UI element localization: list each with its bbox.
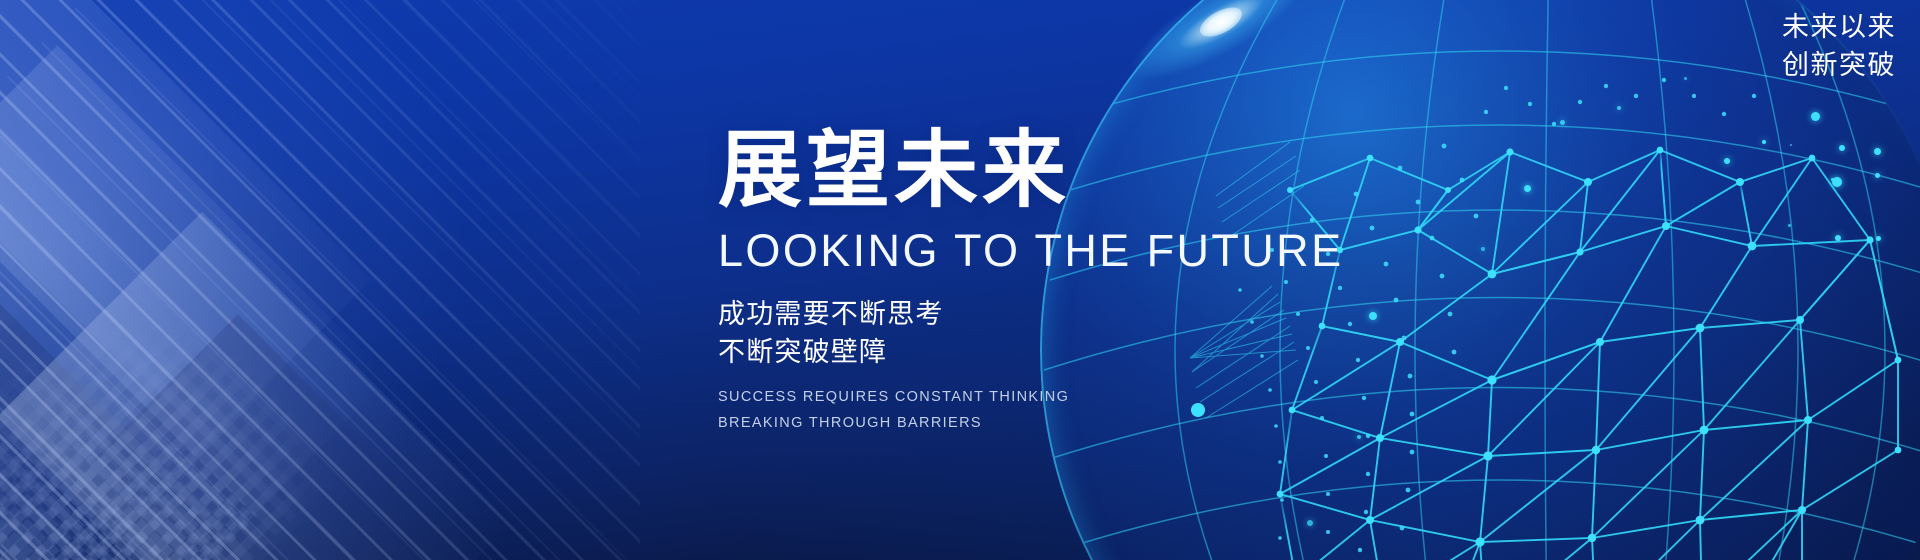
corner-slogan-line-2: 创新突破 [1782,46,1896,84]
subtitle-en: SUCCESS REQUIRES CONSTANT THINKING BREAK… [718,384,1478,438]
page-title-cn: 展望未来 [718,128,1478,212]
deco-slab [0,0,67,387]
diagonal-hairlines [0,0,640,560]
particle-dot [1790,144,1792,146]
deco-slab [0,212,513,560]
subtitle-cn-line-2: 不断突破壁障 [718,333,1478,371]
corner-slogan: 未来以来 创新突破 [1782,8,1896,85]
checker-dot-pattern [0,254,346,560]
light-flare [1119,0,1322,98]
particle-dot [1788,224,1791,227]
particle-dot [1684,77,1687,80]
particle-dot [1524,185,1531,192]
page-title-en: LOOKING TO THE FUTURE [718,228,1478,273]
subtitle-en-line-2: BREAKING THROUGH BARRIERS [718,410,1478,437]
subtitle-en-line-1: SUCCESS REQUIRES CONSTANT THINKING [718,384,1478,411]
light-flare-core [1196,1,1247,42]
particle-dot [1874,148,1881,155]
deco-slab [0,109,346,560]
diagonal-hairlines-secondary [0,0,640,560]
particle-dot [1560,120,1565,125]
particle-dot [1832,177,1842,187]
particle-dot [1724,158,1730,164]
decoration-glow [0,0,460,560]
subtitle-cn: 成功需要不断思考 不断突破壁障 [718,295,1478,372]
hero-banner: 未来以来 创新突破 展望未来 LOOKING TO THE FUTURE 成功需… [0,0,1920,560]
particle-dot [1876,236,1881,241]
deco-slab [0,45,390,505]
particle-dot [1481,247,1485,251]
particle-dot [1307,520,1313,526]
particle-dot [1835,235,1841,241]
left-geometric-decoration [0,0,640,560]
hero-copy-block: 展望未来 LOOKING TO THE FUTURE 成功需要不断思考 不断突破… [718,128,1478,437]
particle-dot [1762,140,1766,144]
particle-dot [1617,106,1621,110]
checker-dot-pattern-secondary [0,332,258,560]
deco-slab-dark [89,314,520,560]
deco-slab-dark [0,206,234,560]
particle-dot [1811,112,1820,121]
particle-dot [1839,145,1845,151]
particle-dot [1875,173,1880,178]
corner-slogan-line-1: 未来以来 [1782,8,1896,46]
deco-slab [0,0,371,456]
subtitle-cn-line-1: 成功需要不断思考 [718,295,1478,333]
